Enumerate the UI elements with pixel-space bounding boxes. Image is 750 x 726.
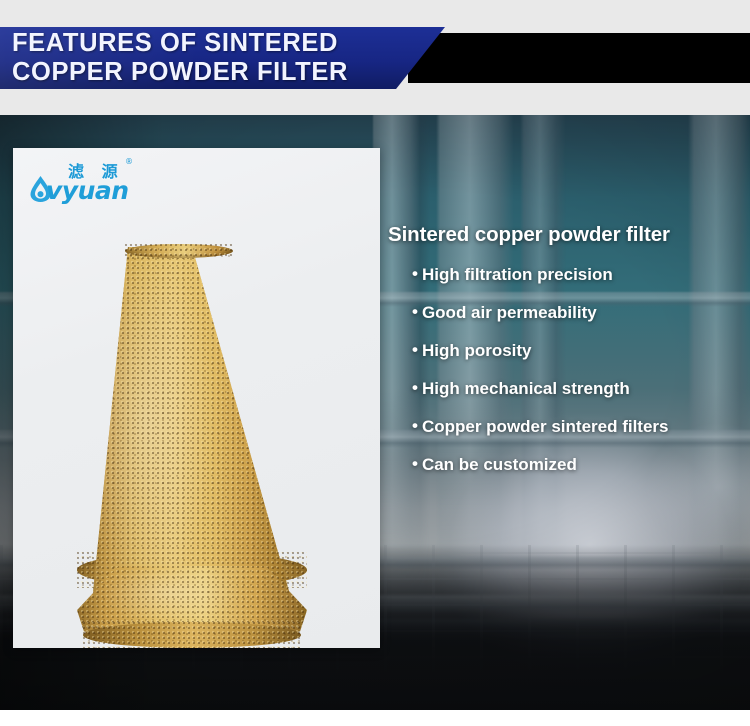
product-card: 滤 源 ® vyuan [13, 148, 380, 648]
bullet-icon: • [412, 455, 418, 472]
feature-item: • High filtration precision [412, 265, 750, 285]
banner-title: FEATURES OF SINTERED COPPER POWDER FILTE… [12, 29, 412, 87]
feature-label: Can be customized [422, 455, 577, 475]
bullet-icon: • [412, 379, 418, 396]
feature-item: • High mechanical strength [412, 379, 750, 399]
feature-label: Good air permeability [422, 303, 597, 323]
feature-item: • High porosity [412, 341, 750, 361]
feature-label: Copper powder sintered filters [422, 417, 669, 437]
black-accent-bar [408, 33, 750, 83]
bullet-icon: • [412, 303, 418, 320]
product-image [13, 148, 380, 648]
product-flange-bottom [83, 622, 301, 648]
bullet-icon: • [412, 417, 418, 434]
feature-item: • Can be customized [412, 455, 750, 475]
header-zone: FEATURES OF SINTERED COPPER POWDER FILTE… [0, 0, 750, 115]
bullet-icon: • [412, 265, 418, 282]
feature-label: High porosity [422, 341, 532, 361]
feature-label: High filtration precision [422, 265, 613, 285]
sinter-texture [83, 622, 301, 648]
sinter-texture [125, 244, 233, 258]
feature-item: • Good air permeability [412, 303, 750, 323]
footer-strip [0, 710, 750, 726]
product-hero-photo: 滤 源 ® vyuan [0, 115, 750, 710]
bullet-icon: • [412, 341, 418, 358]
feature-item: • Copper powder sintered filters [412, 417, 750, 437]
feature-list-block: Sintered copper powder filter • High fil… [388, 223, 750, 475]
promo-banner-page: FEATURES OF SINTERED COPPER POWDER FILTE… [0, 0, 750, 726]
product-title: Sintered copper powder filter [388, 223, 750, 247]
product-cone-rim [125, 244, 233, 258]
feature-label: High mechanical strength [422, 379, 630, 399]
title-banner: FEATURES OF SINTERED COPPER POWDER FILTE… [0, 27, 445, 89]
